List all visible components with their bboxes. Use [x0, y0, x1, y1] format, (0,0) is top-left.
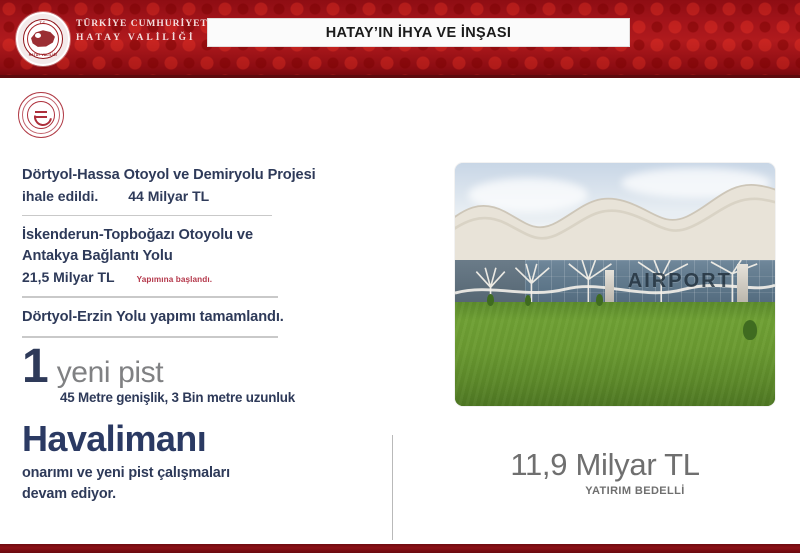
airport-desc-line-1: onarımı ve yeni pist çalışmaları: [22, 463, 394, 485]
runway-label: yeni pist: [57, 358, 163, 388]
project-1-status: ihale edildi.: [22, 186, 98, 206]
divider-1: [22, 215, 272, 216]
project-2-title-line1: İskenderun-Topboğazı Otoyolu ve: [22, 225, 394, 246]
infographic-page: T.C. HATAY VALİLİĞİ TÜRKİYE CUMHURİYETİ …: [0, 0, 800, 553]
org-line-1: TÜRKİYE CUMHURİYETİ: [76, 18, 212, 32]
seal-top-text: T.C.: [18, 21, 68, 25]
airport-block: Havalimanı onarımı ve yeni pist çalışmal…: [22, 421, 394, 506]
wavy-roof-icon: [455, 173, 775, 260]
page-footer-bar: [0, 544, 800, 553]
project-2-amount-row: 21,5 Milyar TL Yapımına başlandı.: [22, 267, 394, 287]
project-item-2: İskenderun-Topboğazı Otoyolu ve Antakya …: [22, 225, 394, 287]
vertical-divider: [392, 435, 393, 540]
project-1-status-row: ihale edildi. 44 Milyar TL: [22, 186, 394, 206]
airport-title: Havalimanı: [22, 421, 394, 457]
runway-block: 1 yeni pist 45 Metre genişlik, 3 Bin met…: [22, 347, 394, 405]
ministry-seal-core: [32, 106, 50, 124]
org-line-2: HATAY VALİLİĞİ: [76, 32, 212, 46]
page-header: T.C. HATAY VALİLİĞİ TÜRKİYE CUMHURİYETİ …: [0, 0, 800, 78]
airport-photo: AIRPORT: [455, 163, 775, 406]
divider-2: [22, 296, 278, 297]
investment-label: YATIRIM BEDELLİ: [490, 485, 780, 497]
bush-3: [596, 294, 603, 306]
project-2-title-line2: Antakya Bağlantı Yolu: [22, 246, 394, 267]
project-2-note: Yapımına başlandı.: [137, 274, 213, 286]
organization-name: TÜRKİYE CUMHURİYETİ HATAY VALİLİĞİ: [76, 18, 212, 46]
project-2-amount: 21,5 Milyar TL: [22, 267, 115, 287]
project-item-3: Dörtyol-Erzin Yolu yapımı tamamlandı.: [22, 307, 394, 328]
page-title: HATAY’IN İHYA VE İNŞASI: [326, 25, 512, 41]
projects-column: Dörtyol-Hassa Otoyol ve Demiryolu Projes…: [22, 165, 394, 506]
hatay-valiligi-seal-icon: T.C. HATAY VALİLİĞİ: [16, 12, 70, 66]
investment-amount: 11,9 Milyar TL: [430, 448, 780, 482]
bush-1: [487, 294, 494, 306]
runway-headline: 1 yeni pist: [22, 347, 394, 388]
header-title-box: HATAY’IN İHYA VE İNŞASI: [207, 18, 630, 47]
airport-signage: AIRPORT: [628, 270, 732, 293]
project-1-title: Dörtyol-Hassa Otoyol ve Demiryolu Projes…: [22, 165, 394, 186]
seal-bottom-text: HATAY VALİLİĞİ: [18, 53, 68, 57]
airport-description: onarımı ve yeni pist çalışmaları devam e…: [22, 463, 394, 506]
bush-4: [743, 320, 757, 340]
project-1-amount: 44 Milyar TL: [128, 186, 209, 206]
project-3-title: Dörtyol-Erzin Yolu yapımı tamamlandı.: [22, 307, 394, 328]
pillar-1: [605, 270, 614, 304]
runway-description: 45 Metre genişlik, 3 Bin metre uzunluk: [60, 390, 394, 405]
ministry-seal-icon: [18, 92, 64, 138]
photo-grass: [455, 302, 775, 406]
airport-desc-line-2: devam ediyor.: [22, 484, 394, 506]
investment-cost-block: 11,9 Milyar TL YATIRIM BEDELLİ: [430, 448, 780, 497]
divider-3: [22, 336, 278, 337]
project-item-1: Dörtyol-Hassa Otoyol ve Demiryolu Projes…: [22, 165, 394, 206]
pillar-2: [737, 264, 748, 304]
runway-count: 1: [22, 347, 48, 386]
